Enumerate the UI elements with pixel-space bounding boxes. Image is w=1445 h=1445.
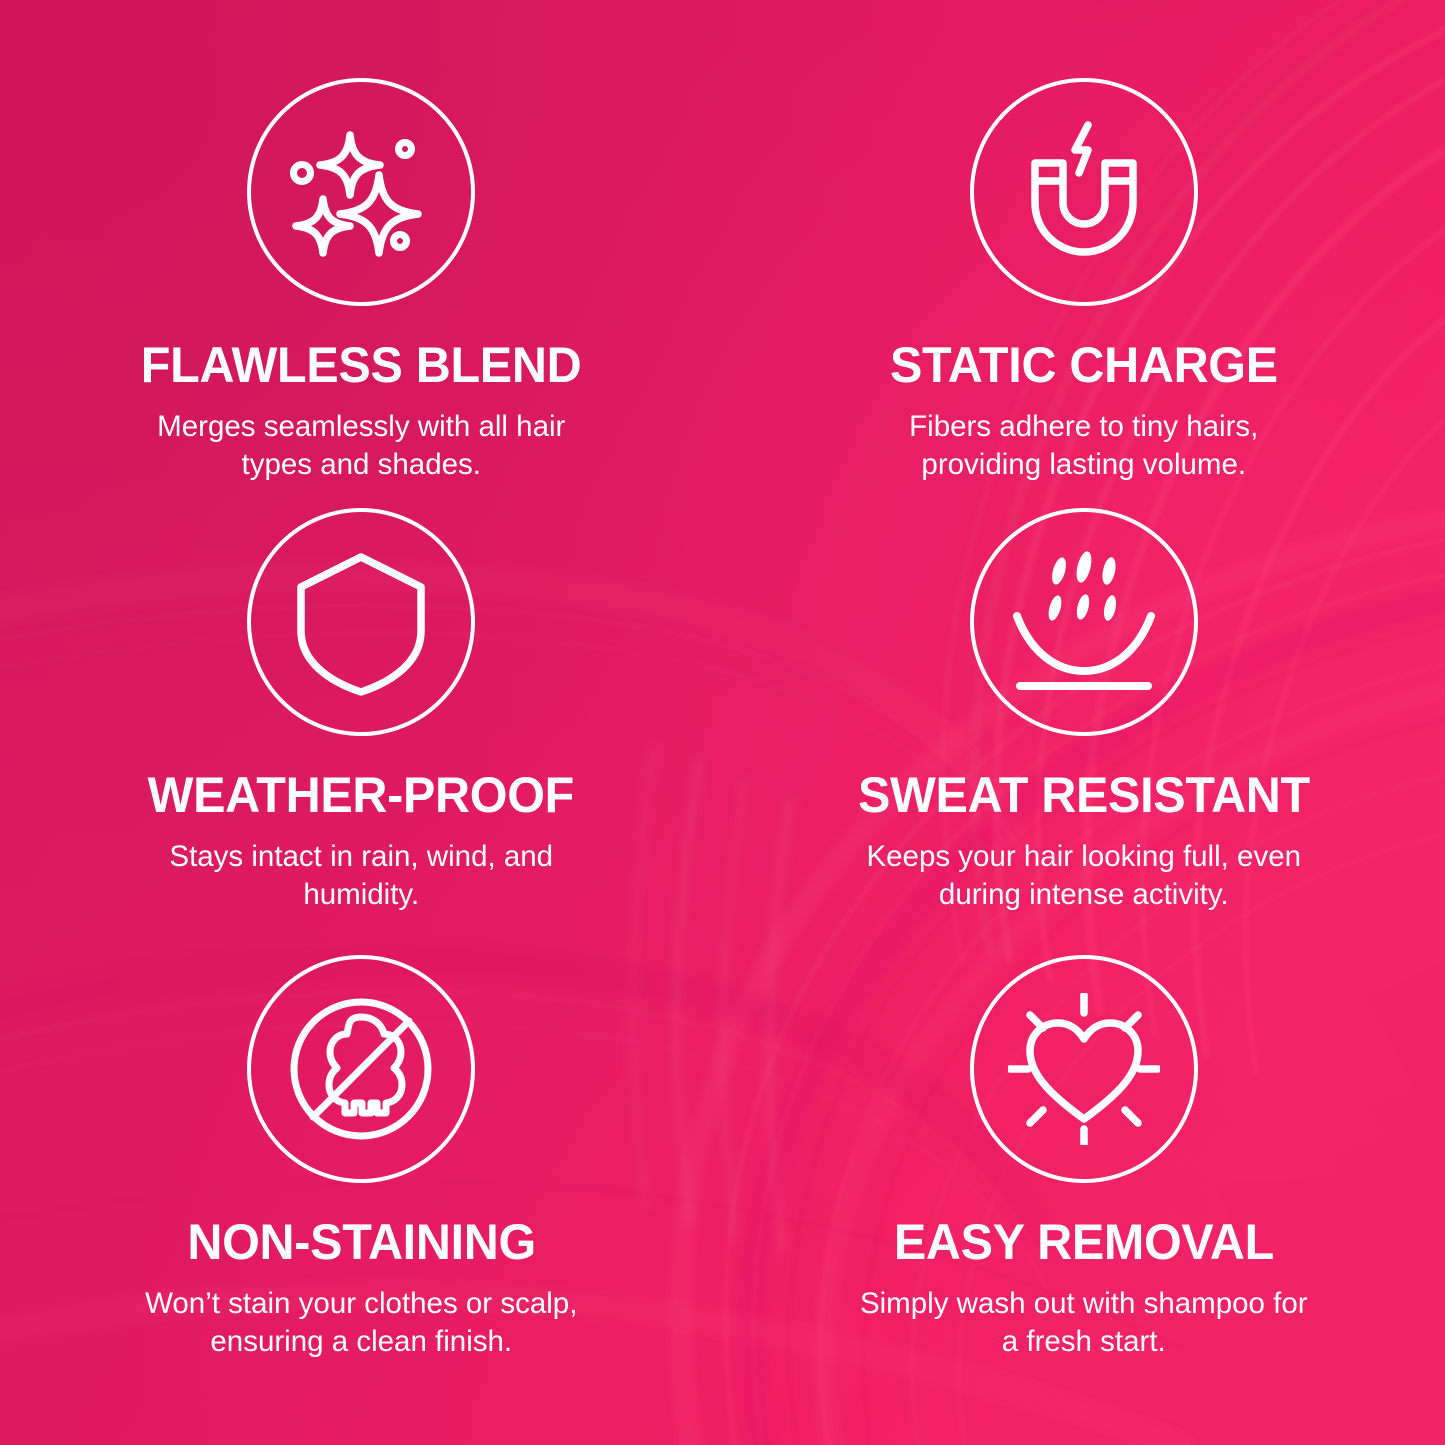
water-repellent-icon-circle xyxy=(970,508,1198,736)
feature-weather-proof: WEATHER-PROOF Stays intact in rain, wind… xyxy=(0,482,723,927)
feature-title: SWEAT RESISTANT xyxy=(858,770,1310,820)
sparkles-icon xyxy=(286,117,436,267)
feature-easy-removal: EASY REMOVAL Simply wash out with shampo… xyxy=(723,927,1445,1445)
feature-description: Stays intact in rain, wind, and humidity… xyxy=(149,838,573,915)
feature-title: EASY REMOVAL xyxy=(894,1217,1274,1267)
sparkles-icon-circle xyxy=(247,78,475,306)
feature-description: Simply wash out with shampoo for a fresh… xyxy=(858,1285,1310,1362)
feature-description: Merges seamlessly with all hair types an… xyxy=(145,408,577,485)
feature-description: Fibers adhere to tiny hairs, providing l… xyxy=(882,408,1286,485)
no-stain-icon-circle xyxy=(247,955,475,1183)
feature-title: STATIC CHARGE xyxy=(890,340,1278,390)
shield-icon xyxy=(286,547,436,697)
feature-grid: FLAWLESS BLEND Merges seamlessly with al… xyxy=(0,0,1445,1445)
feature-static-charge: STATIC CHARGE Fibers adhere to tiny hair… xyxy=(723,0,1445,482)
feature-title: FLAWLESS BLEND xyxy=(141,340,582,390)
feature-title: WEATHER-PROOF xyxy=(148,770,574,820)
water-repellent-icon xyxy=(1009,547,1159,697)
feature-description: Won’t stain your clothes or scalp, ensur… xyxy=(120,1285,602,1362)
magnet-bolt-icon-circle xyxy=(970,78,1198,306)
shining-heart-icon xyxy=(1008,993,1160,1145)
feature-flawless-blend: FLAWLESS BLEND Merges seamlessly with al… xyxy=(0,0,723,482)
magnet-bolt-icon xyxy=(1009,117,1159,267)
feature-non-staining: NON-STAINING Won’t stain your clothes or… xyxy=(0,927,723,1445)
no-stain-icon xyxy=(281,989,441,1149)
shield-icon-circle xyxy=(247,508,475,736)
shining-heart-icon-circle xyxy=(970,955,1198,1183)
feature-sweat-resistant: SWEAT RESISTANT Keeps your hair looking … xyxy=(723,482,1445,927)
feature-description: Keeps your hair looking full, even durin… xyxy=(850,838,1318,915)
feature-title: NON-STAINING xyxy=(187,1217,536,1267)
